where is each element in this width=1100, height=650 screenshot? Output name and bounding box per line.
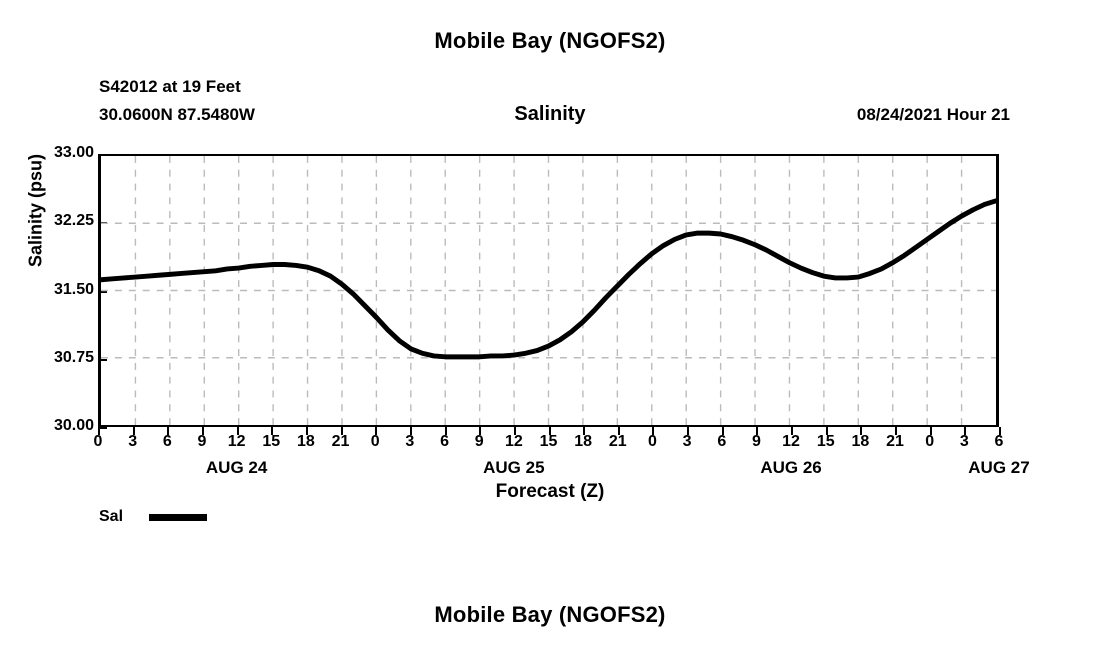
x-tick-label: 3 [395,433,425,451]
day-label: AUG 27 [929,458,1069,478]
x-tick-label: 6 [707,433,737,451]
x-tick-label: 21 [326,433,356,451]
page-title-top: Mobile Bay (NGOFS2) [0,28,1100,54]
y-tick-label: 31.50 [24,281,94,299]
x-tick-label: 21 [880,433,910,451]
chart-legend: Sal [99,508,207,526]
day-label: AUG 25 [444,458,584,478]
x-tick-label: 0 [637,433,667,451]
x-tick-label: 0 [83,433,113,451]
x-tick-label: 6 [152,433,182,451]
x-tick-label: 3 [118,433,148,451]
chart-page: Mobile Bay (NGOFS2) S42012 at 19 Feet 30… [0,0,1100,650]
y-tick-label: 33.00 [24,144,94,162]
x-axis-label: Forecast (Z) [0,481,1100,503]
x-tick-mark [514,427,516,435]
x-tick-mark [410,427,412,435]
x-tick-label: 9 [741,433,771,451]
x-tick-label: 6 [430,433,460,451]
x-tick-mark [202,427,204,435]
x-tick-mark [133,427,135,435]
x-tick-label: 15 [534,433,564,451]
x-tick-label: 12 [222,433,252,451]
x-tick-label: 6 [984,433,1014,451]
legend-line-swatch [149,514,207,521]
x-tick-mark [826,427,828,435]
station-id-label: S42012 at 19 Feet [99,77,241,97]
x-tick-label: 12 [499,433,529,451]
x-tick-mark [583,427,585,435]
x-tick-label: 15 [811,433,841,451]
x-tick-mark [445,427,447,435]
x-tick-mark [652,427,654,435]
x-tick-mark [618,427,620,435]
x-tick-label: 21 [603,433,633,451]
day-label: AUG 24 [167,458,307,478]
x-tick-label: 9 [464,433,494,451]
x-tick-mark [999,427,1001,435]
legend-item-label: Sal [99,508,123,526]
x-tick-mark [756,427,758,435]
model-run-timestamp: 08/24/2021 Hour 21 [857,105,1010,125]
x-tick-mark [687,427,689,435]
x-tick-label: 18 [291,433,321,451]
x-tick-label: 9 [187,433,217,451]
y-tick-label: 32.25 [24,212,94,230]
x-tick-label: 12 [776,433,806,451]
x-tick-label: 0 [360,433,390,451]
x-tick-mark [341,427,343,435]
x-tick-mark [860,427,862,435]
x-tick-mark [271,427,273,435]
x-tick-mark [549,427,551,435]
x-tick-mark [791,427,793,435]
chart-canvas [101,156,996,425]
x-tick-mark [167,427,169,435]
x-tick-mark [895,427,897,435]
x-tick-mark [237,427,239,435]
page-title-bottom: Mobile Bay (NGOFS2) [0,602,1100,628]
x-tick-mark [306,427,308,435]
x-tick-label: 15 [256,433,286,451]
x-tick-mark [98,427,100,435]
day-label: AUG 26 [721,458,861,478]
x-tick-label: 18 [568,433,598,451]
x-tick-mark [930,427,932,435]
y-tick-label: 30.75 [24,349,94,367]
x-tick-label: 3 [672,433,702,451]
plot-area [98,154,999,427]
x-tick-mark [964,427,966,435]
x-tick-mark [722,427,724,435]
x-tick-label: 0 [915,433,945,451]
x-tick-mark [375,427,377,435]
x-tick-label: 3 [949,433,979,451]
x-tick-mark [479,427,481,435]
x-tick-label: 18 [845,433,875,451]
